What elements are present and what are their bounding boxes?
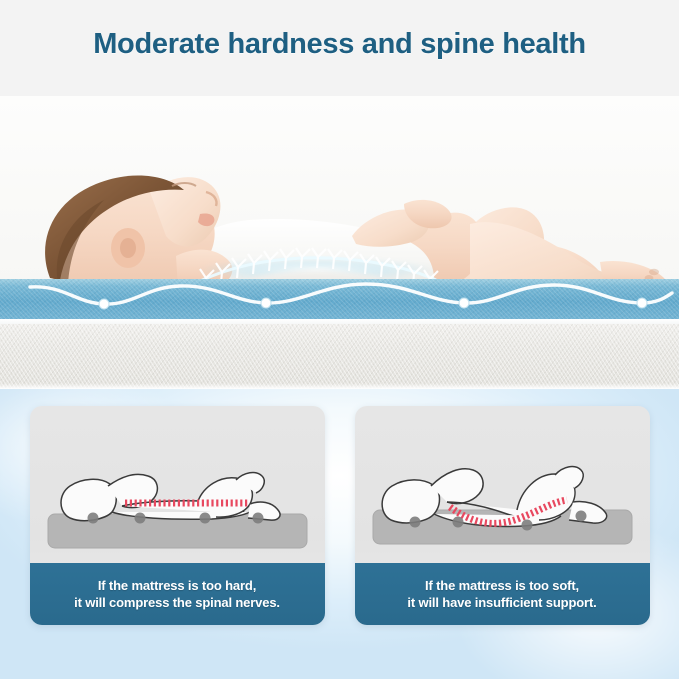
caption-line-2: it will compress the spinal nerves.	[74, 594, 280, 611]
mattress-wave-line	[0, 273, 679, 323]
caption-line-1: If the mattress is too hard,	[98, 577, 256, 594]
mattress	[0, 279, 679, 389]
comparison-section: If the mattress is too hard, it will com…	[0, 389, 679, 679]
too-hard-diagram	[30, 406, 325, 563]
too-hard-caption: If the mattress is too hard, it will com…	[30, 563, 325, 625]
card-too-hard[interactable]: If the mattress is too hard, it will com…	[30, 406, 325, 625]
too-hard-illustration	[30, 406, 325, 563]
too-soft-caption: If the mattress is too soft, it will hav…	[355, 563, 650, 625]
too-soft-diagram	[355, 406, 650, 563]
mattress-foam-layer	[0, 324, 679, 389]
too-soft-illustration	[355, 406, 650, 563]
caption-line-1: If the mattress is too soft,	[425, 577, 579, 594]
mattress-wave-dots	[99, 298, 647, 309]
hero-photo	[0, 96, 679, 389]
caption-line-2: it will have insufficient support.	[407, 594, 596, 611]
page-title: Moderate hardness and spine health	[0, 28, 679, 61]
hero-section: Moderate hardness and spine health	[0, 0, 679, 389]
comparison-cards-row: If the mattress is too hard, it will com…	[0, 389, 679, 679]
card-too-soft[interactable]: If the mattress is too soft, it will hav…	[355, 406, 650, 625]
